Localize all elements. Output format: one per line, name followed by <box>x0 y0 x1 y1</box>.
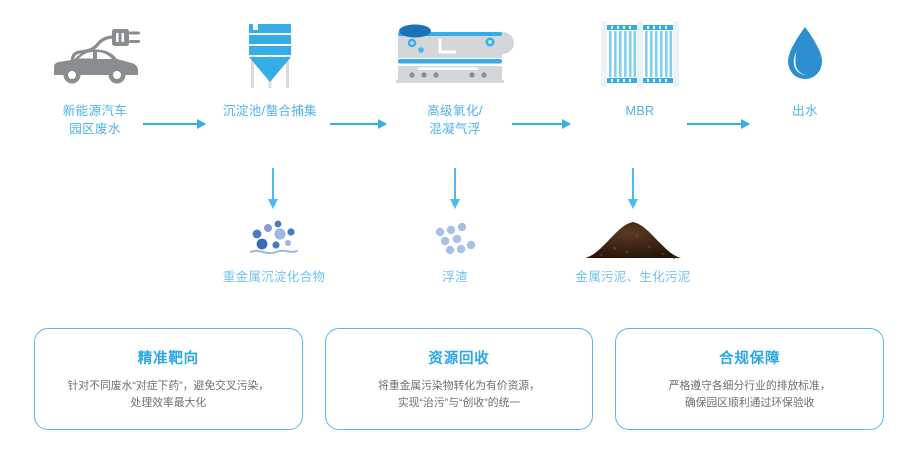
branch-arrow-1 <box>272 168 274 200</box>
byproduct-label: 浮渣 <box>375 268 535 286</box>
branch-arrow-2 <box>454 168 456 200</box>
flow-stage-sedimentation-chelation: 沉淀池/螯合捕集 <box>195 14 345 120</box>
feature-card-compliance-assurance[interactable]: 合规保障 严格遵守各细分行业的排放标准， 确保园区顺利通过环保验收 <box>615 328 884 430</box>
sludge-pile-icon <box>553 212 713 260</box>
feature-card-precision-targeting[interactable]: 精准靶向 针对不同废水“对症下药”，避免交叉污染， 处理效率最大化 <box>34 328 303 430</box>
flow-stage-mbr: MBR <box>565 14 715 120</box>
flow-stage-label: 高级氧化/ 混凝气浮 <box>380 102 530 138</box>
byproduct-label: 金属污泥、生化污泥 <box>553 268 713 286</box>
flow-arrow-2 <box>330 123 386 125</box>
flow-arrow-1 <box>143 123 205 125</box>
feature-card-resource-recovery[interactable]: 资源回收 将重金属污染物转化为有价资源， 实现“治污”与“创收”的统一 <box>325 328 594 430</box>
flow-stage-effluent: 出水 <box>730 14 880 120</box>
byproduct-scum: 浮渣 <box>375 212 535 286</box>
feature-card-list: 精准靶向 针对不同废水“对症下药”，避免交叉污染， 处理效率最大化 资源回收 将… <box>34 328 884 430</box>
electric-car-icon <box>20 14 170 94</box>
card-title: 合规保障 <box>719 347 780 368</box>
process-flow-row: 新能源汽车 园区废水 <box>0 14 918 164</box>
scum-particles-icon <box>375 212 535 260</box>
flow-stage-label: 新能源汽车 园区废水 <box>20 102 170 138</box>
precipitate-particles-icon <box>194 212 354 260</box>
card-body: 将重金属污染物转化为有价资源， 实现“治污”与“创收”的统一 <box>378 378 540 412</box>
card-title: 资源回收 <box>428 347 489 368</box>
byproduct-label: 重金属沉淀化合物 <box>194 268 354 286</box>
byproduct-heavy-metal-precipitate: 重金属沉淀化合物 <box>194 212 354 286</box>
oxidation-flotation-tank-icon <box>380 14 530 94</box>
water-drop-icon <box>730 14 880 94</box>
sedimentation-tank-icon <box>195 14 345 94</box>
branch-arrow-3 <box>632 168 634 200</box>
card-body: 严格遵守各细分行业的排放标准， 确保园区顺利通过环保验收 <box>669 378 831 412</box>
flow-stage-label: MBR <box>565 102 715 120</box>
card-title: 精准靶向 <box>138 347 199 368</box>
flow-stage-label: 出水 <box>730 102 880 120</box>
mbr-membrane-icon <box>565 14 715 94</box>
flow-stage-label: 沉淀池/螯合捕集 <box>195 102 345 120</box>
flow-arrow-4 <box>687 123 749 125</box>
flow-arrow-3 <box>512 123 570 125</box>
byproduct-metal-bio-sludge: 金属污泥、生化污泥 <box>553 212 713 286</box>
process-flow-infographic: 新能源汽车 园区废水 <box>0 0 918 466</box>
flow-stage-advanced-oxidation-flotation: 高级氧化/ 混凝气浮 <box>380 14 530 138</box>
flow-stage-ev-park-wastewater: 新能源汽车 园区废水 <box>20 14 170 138</box>
card-body: 针对不同废水“对症下药”，避免交叉污染， 处理效率最大化 <box>68 378 270 412</box>
